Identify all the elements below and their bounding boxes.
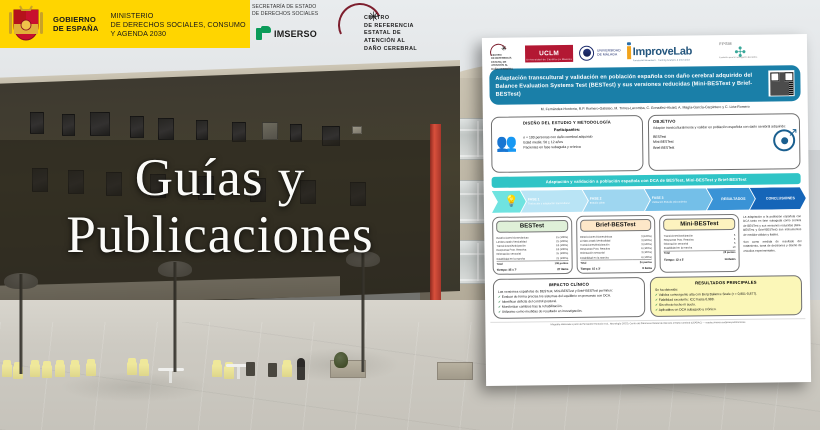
poster-fpsm-logo: FPSM ✣ Fundación para la Investigación B…: [698, 40, 760, 63]
item-text: Utilizarse como medidas de resultado en …: [502, 309, 582, 314]
chair: [42, 365, 52, 378]
row-key: Total: [664, 250, 715, 255]
poster-phase-flow: 💡 FASE 1 Traducción y adaptación transcu…: [492, 187, 801, 213]
qr-code-icon[interactable]: [768, 70, 794, 96]
flow-desc: Estudio piloto: [590, 201, 648, 205]
objective-bullet: Brief-BESTest: [653, 145, 674, 151]
poster-uma-logo: UNIVERSIDAD DE MÁLAGA: [579, 45, 621, 61]
ministry-label: MINISTERIO DE DERECHOS SOCIALES, CONSUMO…: [111, 11, 246, 38]
uclm-label: UCLM: [539, 50, 559, 57]
imserso-label: IMSERSO: [274, 29, 317, 39]
improvelab-mark-icon: [627, 46, 631, 59]
poster-teal-strip: Adaptación y validación a población espa…: [492, 173, 801, 188]
flow-step-phase2: FASE 2 Estudio piloto: [583, 189, 650, 212]
fpsm-sublabel: Fundación para la Investigación Biomédic…: [716, 56, 760, 59]
check-icon: ✓: [498, 300, 501, 304]
poster-top-cards: DISEÑO DEL ESTUDIO Y METODOLOGÍA Partici…: [491, 113, 801, 173]
imserso-logo: IMSERSO: [256, 26, 317, 41]
flow-step-conclusions: CONCLUSIONES: [750, 187, 806, 210]
window: [90, 112, 110, 136]
uclm-sublabel: Universidad de Castilla-La Mancha: [525, 59, 573, 62]
poster-conclusions-text: La adaptación a la población española co…: [743, 213, 802, 272]
row-key: Total: [580, 260, 632, 265]
flow-step-start: 💡: [492, 191, 526, 213]
objective-heading: OBJETIVO: [653, 117, 795, 124]
test-table: Transiciones/Anticipación6 Respuesta Pos…: [664, 233, 736, 256]
row-key: Total: [497, 261, 547, 266]
waste-bin: [268, 363, 277, 377]
chair: [282, 364, 292, 377]
flow-step-results: RESULTADOS: [707, 188, 755, 211]
poster-authors: M. Fernández-Hontoria, R.P. Romero-Galis…: [502, 104, 789, 113]
window: [30, 112, 44, 134]
planter: [437, 362, 473, 380]
flow-step-phase1: FASE 1 Traducción y adaptación transcult…: [521, 190, 588, 213]
table-row-total: Total108 puntos: [497, 261, 569, 267]
poster-ceadac-logo: ✳ CENTRO DE REFERENCIA ESTATAL DE ATENCI…: [489, 43, 519, 65]
test-table: Restricciones biomecánicas15 (100%) Lími…: [496, 235, 568, 266]
main-results-heading: RESULTADOS PRINCIPALES: [655, 280, 797, 287]
flow-label: CONCLUSIONES: [757, 196, 804, 201]
test-column-bestest: BESTest Restricciones biomecánicas15 (10…: [492, 216, 572, 275]
test-time: Tiempo: 12 ± 3': [664, 258, 684, 262]
secretary-of-state-label: SECRETARÍA DE ESTADO DE DERECHOS SOCIALE…: [252, 4, 336, 17]
government-wordmarks: GOBIERNO DE ESPAÑA MINISTERIO DE DERECHO…: [53, 11, 246, 38]
study-design-heading: DISEÑO DEL ESTUDIO Y METODOLOGÍA: [496, 119, 638, 126]
improvelab-sublabel: Functional Movement · Training Analysis …: [633, 59, 690, 62]
main-results-item: ✓ Aplicables en DCA subagudo y crónico.: [655, 306, 797, 313]
lightbulb-icon: 💡: [504, 196, 518, 207]
waste-bin: [246, 362, 255, 376]
test-time: Tiempo: 35 ± 7': [497, 268, 517, 272]
person: [297, 358, 305, 380]
poster-ceadac-label: CENTRO DE REFERENCIA ESTATAL DE ATENCIÓN…: [491, 54, 519, 71]
objective-bullets: BESTest Mini-BESTest Brief-BESTest: [653, 134, 674, 151]
flow-desc: Validación Estudio psicométrico: [652, 200, 710, 204]
poster-title-text: Adaptación transcultural y validación en…: [495, 71, 763, 99]
table-row-total: Total24 puntos: [580, 260, 652, 266]
item-text: Evaluar de forma precisa los sistemas de…: [502, 294, 611, 299]
window: [262, 122, 278, 140]
flow-desc: Traducción y adaptación transcultural: [528, 201, 586, 205]
people-icon: 👥: [496, 135, 517, 152]
ground-stain: [60, 372, 210, 402]
window: [196, 120, 208, 140]
imserso-mark-icon: [256, 26, 271, 41]
page-title: Guías y Publicaciones: [0, 150, 440, 263]
test-items: 6 ítems: [642, 266, 652, 270]
test-column-mini-bestest: Mini-BESTest Transiciones/Anticipación6 …: [659, 214, 739, 273]
study-design-subheading: Participantes:: [496, 126, 638, 133]
check-icon: ✓: [655, 308, 658, 312]
row-value: 24 puntos: [632, 260, 652, 265]
poster-uclm-logo: UCLM Universidad de Castilla-La Mancha: [525, 44, 573, 62]
poster-footer-note: Infografía elaborada a partir de Fernánd…: [490, 318, 805, 328]
test-column-brief-bestest: Brief-BESTest Restricciones biomecánicas…: [576, 215, 656, 274]
test-time: Tiempo: 15 ± 3': [580, 267, 600, 271]
item-text: Validez convergente alta con Berg Balanc…: [659, 292, 757, 297]
window: [62, 114, 75, 136]
target-icon: ↗: [773, 129, 795, 151]
chair: [127, 362, 137, 375]
check-icon: ✓: [498, 295, 501, 299]
ceadac-logo: ✳ CENTRO DE REFERENCIA ESTATAL DE ATENCI…: [338, 2, 443, 48]
spain-coat-of-arms-icon: [6, 4, 46, 44]
test-name: Brief-BESTest: [580, 219, 652, 232]
poster-logo-row: ✳ CENTRO DE REFERENCIA ESTATAL DE ATENCI…: [487, 38, 802, 66]
poster-title-banner: Adaptación transcultural y validación en…: [489, 65, 800, 105]
item-text: Monitorizar cambios tras la rehabilitaci…: [502, 304, 563, 309]
clinical-impact-box: IMPACTO CLÍNICO Las versiones españolas …: [493, 277, 645, 319]
item-text: Aplicables en DCA subagudo y crónico.: [659, 307, 717, 312]
window: [232, 122, 246, 142]
objective-card: OBJETIVO Adaptar transculturalmente y va…: [648, 113, 801, 171]
main-results-box: RESULTADOS PRINCIPALES Se ha obtenido: ✓…: [650, 275, 802, 317]
check-icon: ✓: [655, 303, 658, 307]
window: [352, 126, 362, 134]
window: [130, 116, 144, 138]
check-icon: ✓: [498, 310, 501, 314]
conclusion-paragraph: La adaptación a la población española co…: [743, 214, 801, 237]
flow-step-phase3: FASE 3 Validación Estudio psicométrico: [645, 188, 712, 211]
table-row-total: Total28 puntos: [664, 250, 736, 256]
chair: [212, 364, 222, 377]
ceadac-label: CENTRO DE REFERENCIA ESTATAL DE ATENCIÓN…: [364, 15, 444, 53]
row-value: 28 puntos: [715, 250, 736, 255]
study-design-bullets: n = 100 personas con daño cerebral adqui…: [520, 135, 592, 151]
flow-label: RESULTADOS: [714, 197, 753, 202]
study-design-card: DISEÑO DEL ESTUDIO Y METODOLOGÍA Partici…: [491, 115, 644, 173]
uma-seal-icon: [579, 45, 594, 60]
window: [158, 118, 174, 140]
conclusion-paragraph: Son como medida de resultado del tratami…: [743, 239, 801, 253]
item-text: Identificar déficits del control postura…: [502, 299, 557, 304]
page-title-line2: Publicaciones: [0, 207, 440, 264]
test-name: Mini-BESTest: [663, 218, 735, 231]
government-header-bar: GOBIERNO DE ESPAÑA MINISTERIO DE DERECHO…: [0, 0, 250, 48]
poster-improvelab-logo: ImproveLab Functional Movement · Trainin…: [627, 45, 693, 59]
poster-tests-row: BESTest Restricciones biomecánicas15 (10…: [492, 213, 802, 275]
check-icon: ✓: [655, 298, 658, 302]
chair: [139, 363, 149, 376]
check-icon: ✓: [498, 305, 501, 309]
chair: [70, 364, 80, 377]
chair: [55, 364, 65, 377]
chair: [224, 366, 234, 379]
page-root: Guías y Publicaciones GOBIERNO DE ESPAÑA…: [0, 0, 820, 430]
row-value: 108 puntos: [547, 261, 568, 266]
check-icon: ✓: [655, 293, 658, 297]
gobierno-de-espana-label: GOBIERNO DE ESPAÑA: [53, 15, 99, 34]
item-text: Fiabilidad excelente: ICC hasta 0,988.: [659, 297, 715, 302]
improvelab-label: ImproveLab: [633, 45, 693, 58]
test-name: BESTest: [496, 220, 568, 233]
test-items: 14 ítems: [724, 257, 735, 261]
fpsm-label: FPSM: [719, 41, 732, 46]
test-items: 27 ítems: [557, 267, 568, 271]
research-poster[interactable]: ✳ CENTRO DE REFERENCIA ESTATAL DE ATENCI…: [482, 34, 811, 386]
clinical-impact-heading: IMPACTO CLÍNICO: [498, 281, 640, 288]
test-table: Restricciones biomecánicas3 (100%) Límit…: [580, 234, 652, 265]
item-text: Sin efecto techo ni suelo.: [659, 303, 696, 307]
clinical-impact-item: ✓ Utilizarse como medidas de resultado e…: [498, 308, 640, 315]
uma-label: UNIVERSIDAD DE MÁLAGA: [597, 48, 621, 57]
chair: [86, 363, 96, 376]
page-title-line1: Guías y: [135, 149, 305, 207]
study-bullet: Pacientes en fase subaguda y crónica: [520, 145, 592, 151]
poster-bottom-boxes: IMPACTO CLÍNICO Las versiones españolas …: [493, 275, 802, 318]
